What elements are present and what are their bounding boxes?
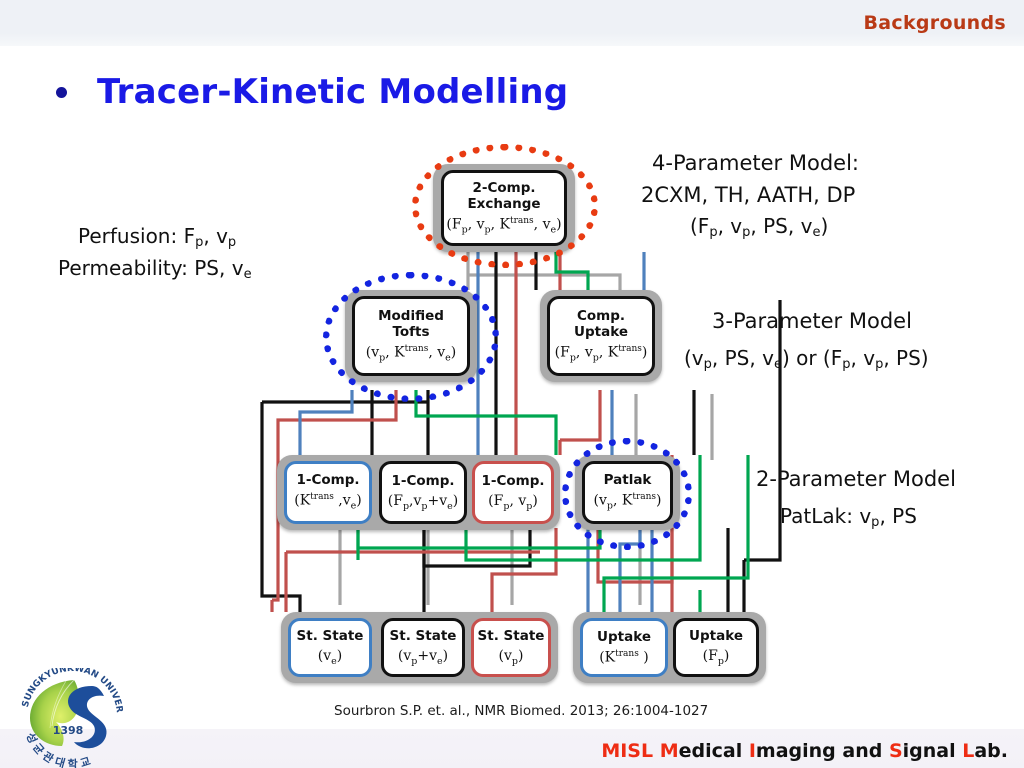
node-title: 1-Comp. [391,474,454,490]
node-title: Uptake [689,629,743,645]
node-title: St. State [478,629,545,645]
slide-canvas: Backgrounds Tracer-Kinetic Modelling Per… [0,0,1024,768]
node-one-comp-fp-vp[interactable]: 1-Comp. (Fp, vp) [472,461,554,524]
node-st-state-ve[interactable]: St. State (ve) [288,618,372,677]
node-title: Patlak [604,473,652,489]
node-params: (Fp, vp) [488,493,538,512]
tracer-kinetic-model-diagram: 2-Comp.Exchange (Fp, vp, Ktrans, ve) Mod… [0,0,1024,768]
node-title: St. State [390,629,457,645]
node-one-comp-ktrans-ve[interactable]: 1-Comp. (Ktrans ,ve) [284,461,372,524]
citation-text: Sourbron S.P. et. al., NMR Biomed. 2013;… [334,703,708,719]
node-comp-uptake[interactable]: Comp.Uptake (Fp, vp, Ktrans) [547,296,655,376]
node-uptake-fp[interactable]: Uptake (Fp) [673,618,759,677]
node-title: St. State [297,629,364,645]
skku-logo: SUNGKYUNKWAN UNIVERSITY 성 균 관 대 학 교 1398 [4,668,146,768]
node-patlak[interactable]: Patlak (vp, Ktrans) [582,461,673,524]
node-params: (vp) [499,648,524,667]
node-title: Uptake [597,630,651,646]
node-title: Comp.Uptake [574,309,628,341]
node-title: ModifiedTofts [378,309,444,341]
node-params: (Ktrans ) [599,649,649,666]
footer-lab-name: MISL Medical Imaging and Signal Lab. [601,740,1008,762]
node-one-comp-fp-vp-ve[interactable]: 1-Comp. (Fp,vp+ve) [379,461,467,524]
node-title: 2-Comp.Exchange [467,181,540,213]
node-title: 1-Comp. [481,474,544,490]
node-uptake-ktrans[interactable]: Uptake (Ktrans ) [580,618,668,677]
node-params: (Fp) [703,648,730,667]
node-modified-tofts[interactable]: ModifiedTofts (vp, Ktrans, ve) [352,296,470,376]
node-params: (vp+ve) [398,648,448,667]
logo-year: 1398 [53,724,84,737]
node-params: (vp, Ktrans) [594,492,662,511]
node-title: 1-Comp. [296,473,359,489]
node-st-state-vp[interactable]: St. State (vp) [471,618,551,677]
node-st-state-vp-ve[interactable]: St. State (vp+ve) [381,618,465,677]
node-params: (Ktrans ,ve) [294,492,362,511]
node-params: (vp, Ktrans, ve) [366,344,456,363]
node-params: (Fp,vp+ve) [388,493,458,512]
node-params: (Fp, vp, Ktrans) [555,344,648,363]
node-params: (Fp, vp, Ktrans, ve) [446,216,561,235]
node-params: (ve) [318,648,342,667]
node-two-comp-exchange[interactable]: 2-Comp.Exchange (Fp, vp, Ktrans, ve) [441,170,567,246]
